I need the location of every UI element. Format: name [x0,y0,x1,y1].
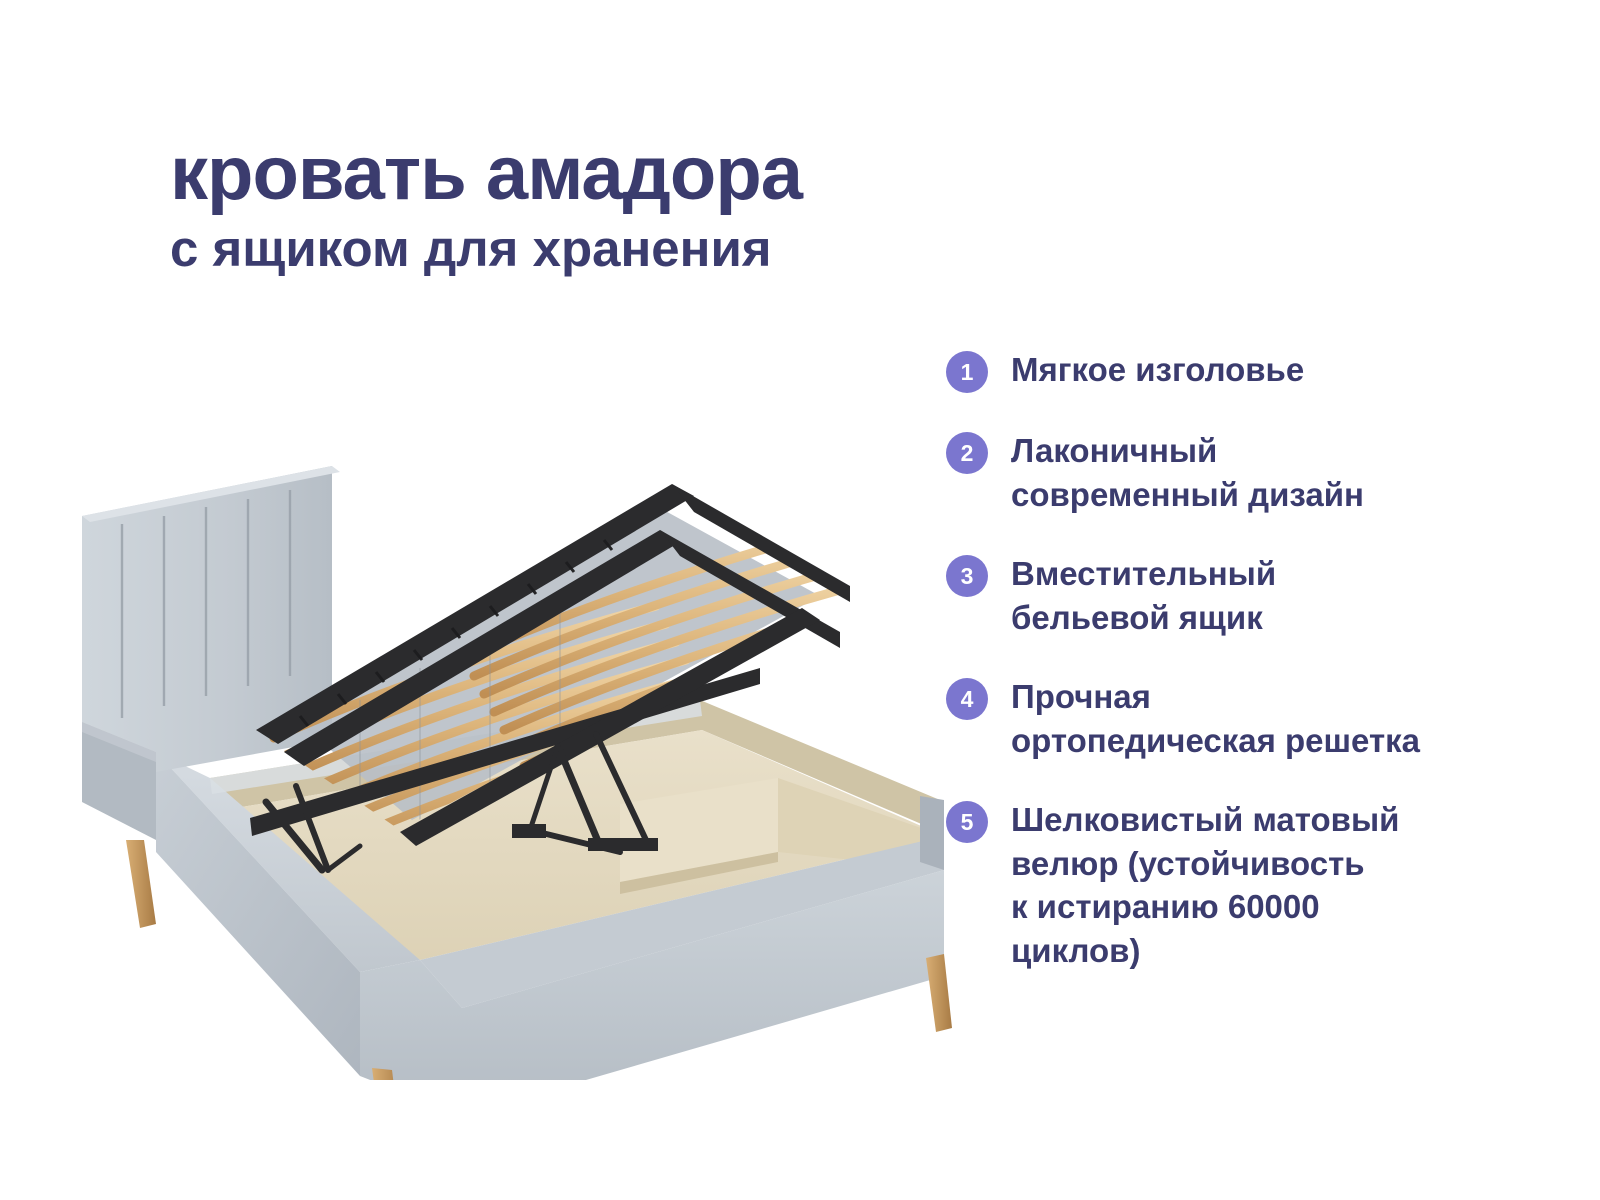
feature-list: 1 Мягкое изголовье 2 Лаконичный современ… [946,348,1506,972]
infographic-page: кровать амадора с ящиком для хранения [0,0,1600,1200]
page-title: кровать амадора [170,135,1150,213]
feature-label: Прочная ортопедическая решетка [1011,675,1420,762]
feature-label: Мягкое изголовье [1011,348,1304,392]
feature-number-badge: 5 [946,801,988,843]
list-item: 3 Вместительный бельевой ящик [946,552,1506,639]
leg-back-left [126,840,156,928]
feature-number-badge: 2 [946,432,988,474]
feature-number-badge: 3 [946,555,988,597]
page-subtitle: с ящиком для хранения [170,221,1150,277]
list-item: 5 Шелковистый матовый велюр (устойчивост… [946,798,1506,972]
feature-label: Шелковистый матовый велюр (устойчивость … [1011,798,1399,972]
list-item: 1 Мягкое изголовье [946,348,1506,393]
list-item: 4 Прочная ортопедическая решетка [946,675,1506,762]
list-item: 2 Лаконичный современный дизайн [946,429,1506,516]
feature-number-badge: 1 [946,351,988,393]
heading-block: кровать амадора с ящиком для хранения [170,135,1150,277]
feature-number-badge: 4 [946,678,988,720]
product-image [60,400,960,1080]
feature-label: Вместительный бельевой ящик [1011,552,1276,639]
feature-label: Лаконичный современный дизайн [1011,429,1364,516]
